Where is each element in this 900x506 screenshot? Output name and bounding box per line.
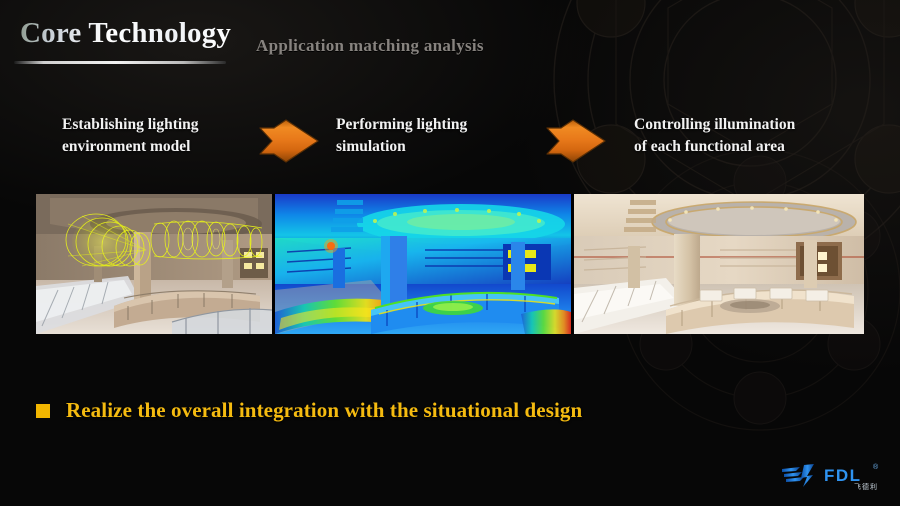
image-gallery-strip	[36, 194, 864, 334]
gallery-panel-illuminance-heatmap[interactable]	[275, 194, 571, 334]
conclusion-text: Realize the overall integration with the…	[66, 398, 582, 423]
arrow-right-icon	[545, 117, 607, 165]
gallery-panel-lighting-model[interactable]	[36, 194, 272, 334]
brand-logo: FDL ® 飞德利	[780, 460, 884, 492]
logo-wave-mark	[782, 464, 814, 487]
gallery-panel-final-render[interactable]	[574, 194, 864, 334]
process-flow: Establishing lighting environment model …	[0, 112, 900, 174]
arrow-right-icon	[258, 117, 320, 165]
conclusion-bullet-row: Realize the overall integration with the…	[36, 398, 582, 423]
page-subtitle: Application matching analysis	[256, 36, 484, 56]
logo-registered-mark: ®	[873, 463, 879, 471]
process-step-1-label: Establishing lighting environment model	[62, 114, 262, 158]
page-title: Core Technology	[20, 17, 231, 50]
process-step-3-label: Controlling illumination of each functio…	[634, 114, 864, 158]
slide-root: Core Technology Application matching ana…	[0, 0, 900, 506]
process-step-2-label: Performing lighting simulation	[336, 114, 516, 158]
logo-sub-text: 飞德利	[854, 482, 878, 491]
logo-wordmark: FDL	[824, 466, 862, 485]
title-underline-rule	[14, 61, 226, 64]
square-bullet-icon	[36, 404, 50, 418]
